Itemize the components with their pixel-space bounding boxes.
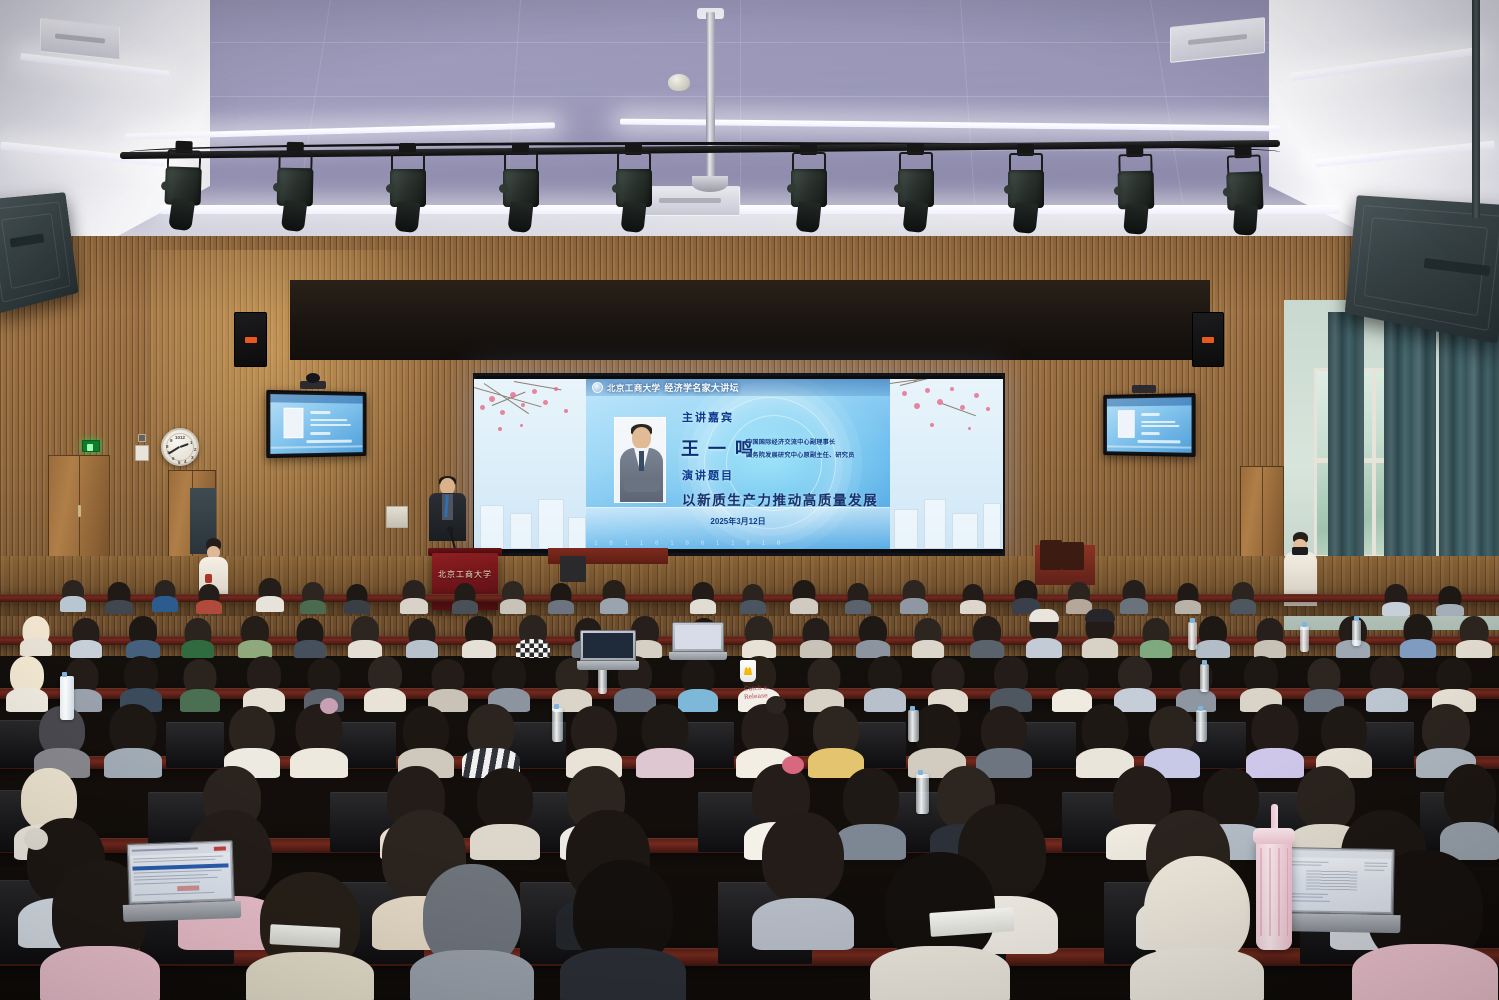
slide-speaker-affiliation-1: 中国国际经济交流中心副理事长	[746, 437, 835, 446]
audience-member	[1230, 582, 1256, 614]
pink-tumbler	[1256, 838, 1292, 950]
audience-member	[406, 618, 438, 658]
audience-member-cap	[1082, 612, 1118, 658]
audience-member-foreground	[1130, 856, 1264, 1000]
audience-member-front	[752, 812, 854, 950]
stage-header-band	[290, 280, 1210, 360]
stage-light	[159, 149, 208, 231]
jbl-logo-icon	[245, 337, 257, 343]
audience-member	[970, 616, 1004, 658]
laptop-left-screen	[130, 843, 232, 901]
audience-member	[243, 656, 285, 712]
audience-member-cap	[1026, 612, 1062, 658]
door-handle[interactable]	[78, 505, 81, 517]
audience-member	[462, 616, 496, 658]
audience-member	[105, 582, 133, 614]
audience-member	[196, 584, 222, 614]
laptop-midrow[interactable]	[580, 630, 636, 670]
audience-area: Catch a Release	[0, 560, 1499, 1000]
hair-tie-icon	[782, 756, 804, 774]
audience-member	[856, 616, 890, 658]
audience-member	[238, 616, 272, 658]
water-bottle	[916, 774, 929, 814]
audience-member	[290, 704, 348, 778]
hair-bun	[766, 696, 786, 714]
audience-member	[126, 616, 160, 658]
screen-left-decor-panel	[474, 379, 586, 549]
audience-member	[348, 616, 382, 658]
wall-control-box	[135, 445, 149, 461]
water-bottle	[552, 708, 563, 742]
audience-member	[60, 580, 86, 612]
curtain-right-inner	[1384, 300, 1436, 600]
side-monitor-left-screen	[270, 394, 362, 454]
audience-member	[1176, 658, 1216, 712]
slide-forum-name: 经济学名家大讲坛	[664, 381, 738, 394]
audience-member	[1120, 580, 1148, 614]
stage-light	[1003, 153, 1049, 233]
curtain-right-outer	[1439, 300, 1499, 600]
slide-topic-title: 以新质生产力推动高质量发展	[682, 489, 878, 509]
jbl-logo-icon	[1202, 337, 1214, 343]
audience-member-foreground	[410, 864, 534, 1000]
stage-light	[385, 152, 431, 232]
slide-speaker-label: 主讲嘉宾	[682, 409, 734, 425]
phone-icon	[1292, 547, 1308, 555]
water-bottle	[1352, 620, 1361, 646]
water-bottle	[1200, 664, 1209, 692]
audience-member	[452, 583, 478, 614]
lecture-hall-photo: 12 1 2 3 4 5 6 7 8 9 10	[0, 0, 1499, 1000]
mcdonalds-cup	[740, 660, 756, 682]
stage-light	[786, 152, 832, 232]
side-monitor-right-screen	[1107, 397, 1192, 453]
stage-light	[498, 152, 544, 232]
laptop-midrow[interactable]	[672, 622, 724, 660]
audience-member	[1140, 618, 1172, 658]
wall-panel-box	[386, 506, 408, 528]
audience-member-foreground	[560, 860, 686, 1000]
slide-date: 2025年3月12日	[710, 516, 765, 527]
ceiling-light-strip	[160, 205, 1340, 214]
audience-member	[600, 580, 628, 614]
tv-drop-rod-right	[1472, 0, 1480, 218]
slide-binary-decor: 1 0 1 1 0 1 0 0 1 1 0 1 0	[594, 540, 886, 547]
audience-member	[152, 580, 178, 612]
audience-member	[364, 656, 406, 712]
audience-member	[548, 583, 574, 614]
plum-blossom-branch-right	[890, 379, 1003, 549]
audience-member	[300, 582, 326, 614]
wall-sensor	[138, 434, 146, 442]
screen-right-decor-panel	[890, 379, 1003, 549]
audience-member	[900, 580, 928, 614]
jbl-speaker-left	[234, 312, 267, 367]
audience-member	[990, 656, 1032, 712]
plum-blossom-branch-left	[474, 379, 586, 549]
slide-footer: 2025年3月12日 1 0 1 1 0 1 0 0 1 1 0 1 0	[586, 507, 890, 549]
audience-member	[804, 658, 844, 712]
cap-icon	[1029, 609, 1059, 622]
ceiling-tile-line	[740, 0, 741, 215]
stage-light	[271, 151, 318, 232]
audience-member	[344, 584, 370, 614]
water-bottle	[1300, 626, 1309, 652]
stage-light	[611, 152, 657, 232]
water-bottle	[1196, 710, 1207, 742]
presenter-person	[427, 478, 467, 556]
audience-member	[864, 656, 906, 712]
stage-light	[893, 152, 939, 232]
laptop-left[interactable]	[127, 840, 236, 922]
laptop-right[interactable]	[1275, 847, 1394, 933]
audience-member	[845, 583, 871, 614]
audience-member	[1456, 616, 1492, 658]
exit-sign-icon	[82, 440, 100, 452]
laptop-right-screen	[1279, 850, 1392, 911]
side-monitor-left	[266, 390, 366, 458]
hair-bun	[1194, 816, 1220, 838]
side-monitor-right	[1103, 393, 1195, 457]
side-monitor-right-mount	[1132, 385, 1156, 393]
audience-member-checkered	[516, 615, 550, 658]
audience-member	[1440, 764, 1499, 860]
jbl-speaker-right	[1192, 312, 1224, 367]
ceiling-tile-line	[150, 96, 1350, 97]
hair-clip-icon	[24, 828, 48, 850]
curtain-right-left	[1328, 312, 1364, 584]
audience-member-striped	[462, 704, 520, 778]
audience-member	[1066, 582, 1092, 614]
slide-header: 北京工商大学 经济学名家大讲坛	[586, 379, 890, 396]
audience-member	[636, 704, 694, 778]
audience-member	[470, 768, 540, 860]
audience-member	[400, 580, 428, 614]
university-seal-icon	[592, 382, 603, 393]
audience-member	[742, 616, 776, 658]
stage-light	[1221, 154, 1270, 236]
audience-member	[1400, 614, 1436, 658]
seat-back	[166, 722, 224, 768]
projector-drop-pole	[706, 12, 715, 187]
window-mullion	[1372, 368, 1376, 558]
audience-member	[182, 618, 214, 658]
presentation-slide: 北京工商大学 经济学名家大讲坛 主讲嘉宾 王一鸣 中国国际经济交流中心副理事长 …	[586, 379, 890, 549]
audience-member	[740, 584, 766, 614]
audience-member	[180, 659, 220, 712]
audience-member	[690, 582, 716, 614]
audience-member	[1366, 656, 1408, 712]
audience-member	[6, 656, 48, 712]
audience-member	[70, 618, 102, 658]
audience-member	[800, 618, 832, 658]
water-bottle	[60, 676, 74, 720]
slide-speaker-affiliation-2: 国务院发展研究中心原副主任、研究员	[746, 450, 855, 459]
audience-member	[790, 580, 818, 614]
slide-university-name: 北京工商大学	[607, 382, 660, 394]
camera-icon	[306, 373, 320, 383]
ceiling-projector	[692, 176, 728, 192]
audience-member	[1436, 586, 1464, 616]
audience-member	[1254, 618, 1286, 658]
slide-topic-label: 演讲题目	[682, 467, 734, 483]
notebook	[270, 924, 341, 948]
audience-member	[294, 618, 326, 658]
audience-member	[1175, 583, 1201, 614]
audience-member	[960, 584, 986, 614]
audience-member	[1304, 658, 1344, 712]
water-bottle	[1188, 622, 1197, 650]
hair-clip-icon	[320, 698, 338, 714]
dome-camera-icon	[668, 74, 690, 91]
audience-member	[104, 704, 162, 778]
stage-light	[1112, 154, 1159, 235]
audience-member	[20, 616, 52, 656]
cap-icon	[1085, 609, 1115, 622]
audience-member	[256, 578, 284, 612]
audience-member	[1196, 616, 1230, 658]
water-bottle	[908, 710, 919, 742]
wall-clock: 12 1 2 3 4 5 6 7 8 9 10	[161, 428, 199, 466]
audience-member	[500, 581, 526, 614]
speaker-portrait	[614, 417, 666, 503]
audience-member	[1382, 584, 1410, 616]
audience-member	[912, 618, 944, 658]
